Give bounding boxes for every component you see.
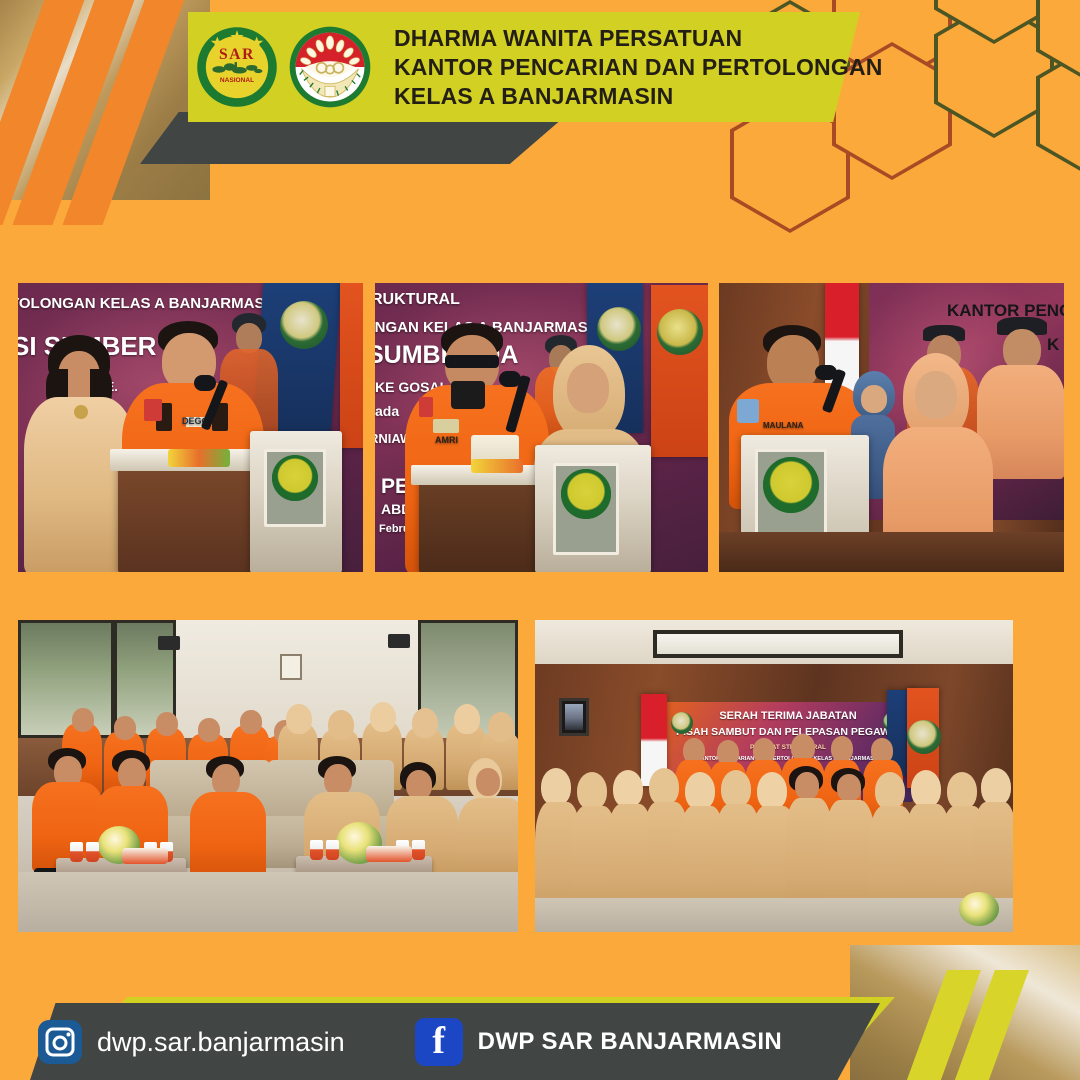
photo2-podium-seal	[561, 469, 611, 519]
header-title-line-1: DHARMA WANITA PERSATUAN	[394, 26, 883, 50]
header-title-block: DHARMA WANITA PERSATUAN KANTOR PENCARIAN…	[394, 26, 883, 108]
photo5-banner-emblem-left	[671, 712, 693, 734]
photo5-projector-screen	[653, 630, 903, 658]
photo2-name-tag: AMRI	[435, 435, 458, 445]
photo4-cup-8	[412, 840, 425, 860]
instagram-link[interactable]: dwp.sar.banjarmasin	[38, 1020, 345, 1064]
photo2-emblem-orange	[657, 309, 703, 355]
photo4-tray-left	[122, 848, 168, 864]
header-content: SAR NASIONAL AVIGNAM JAGAT SAMAGRAM	[196, 14, 856, 120]
photo1-flag-orange	[340, 283, 363, 448]
photo5-banner-line-2: PISAH SAMBUT DAN PELEPASAN PEGAWAI	[663, 726, 913, 738]
photo4-floor	[18, 872, 518, 932]
photo-podium-officer-amri: RUKTURAL ONGAN KELAS A BANJARMASIN SUMBE…	[375, 283, 708, 572]
footer-social-links: dwp.sar.banjarmasin f DWP SAR BANJARMASI…	[38, 1011, 782, 1073]
poster-canvas: SAR NASIONAL AVIGNAM JAGAT SAMAGRAM	[0, 0, 1080, 1080]
photo2-backdrop-text-5: ada	[375, 403, 399, 419]
photo2-backdrop-text-1: RUKTURAL	[375, 291, 460, 309]
photo1-podium-seal	[272, 455, 318, 501]
photo5-floor	[535, 898, 1013, 932]
photo2-microphone-head	[499, 371, 521, 387]
facebook-icon[interactable]: f	[415, 1018, 463, 1066]
facebook-page-name: DWP SAR BANJARMASIN	[478, 1028, 783, 1056]
photo3-floor	[719, 532, 1064, 572]
photo4-cup-5	[310, 840, 323, 860]
photo1-desk-items	[168, 449, 230, 467]
photo1-microphone-head	[194, 375, 216, 391]
facebook-link[interactable]: f DWP SAR BANJARMASIN	[415, 1018, 783, 1066]
photo4-tray-right	[366, 846, 412, 862]
photo-group-banner: SERAH TERIMA JABATAN PISAH SAMBUT DAN PE…	[535, 620, 1013, 932]
photo1-emblem	[280, 301, 328, 349]
photo2-glasses	[445, 355, 499, 368]
photo1-podium	[118, 455, 260, 572]
instagram-icon[interactable]	[38, 1020, 82, 1064]
photo5-flag-emblem	[907, 720, 941, 754]
photo2-desk-items	[471, 459, 523, 473]
photo-podium-woman-and-officer: TOLONGAN KELAS A BANJARMASIN SI SUMBER D…	[18, 283, 363, 572]
photo5-banner-line-1: SERAH TERIMA JABATAN	[663, 710, 913, 722]
photo4-wall-frame	[280, 654, 302, 680]
header-title-line-3: KELAS A BANJARMASIN	[394, 84, 883, 108]
photo4-speaker-left	[158, 636, 180, 650]
photo4-speaker-right	[388, 634, 410, 648]
header-title-line-2: KANTOR PENCARIAN DAN PERTOLONGAN	[394, 55, 883, 79]
photo4-cup-1	[70, 842, 83, 862]
svg-text:NASIONAL: NASIONAL	[220, 77, 254, 84]
photo3-podium-seal	[763, 457, 819, 513]
photo4-cup-2	[86, 842, 99, 862]
sar-nasional-logo: SAR NASIONAL AVIGNAM JAGAT SAMAGRAM	[196, 26, 278, 108]
instagram-handle: dwp.sar.banjarmasin	[97, 1027, 345, 1058]
photo3-name-tag: MAULANA	[763, 421, 803, 430]
photo-audience-seated	[18, 620, 518, 932]
photo4-cup-6	[326, 840, 339, 860]
photo5-flower	[959, 892, 999, 926]
photo5-wall-portrait	[559, 698, 589, 736]
dharma-wanita-persatuan-logo	[288, 25, 372, 109]
photo-podium-officer-family: KANTOR PENCA K	[719, 283, 1064, 572]
photo3-microphone-head	[815, 365, 837, 380]
photo1-backdrop-text-1: TOLONGAN KELAS A BANJARMASIN	[18, 295, 279, 312]
svg-text:SAR: SAR	[219, 46, 255, 63]
